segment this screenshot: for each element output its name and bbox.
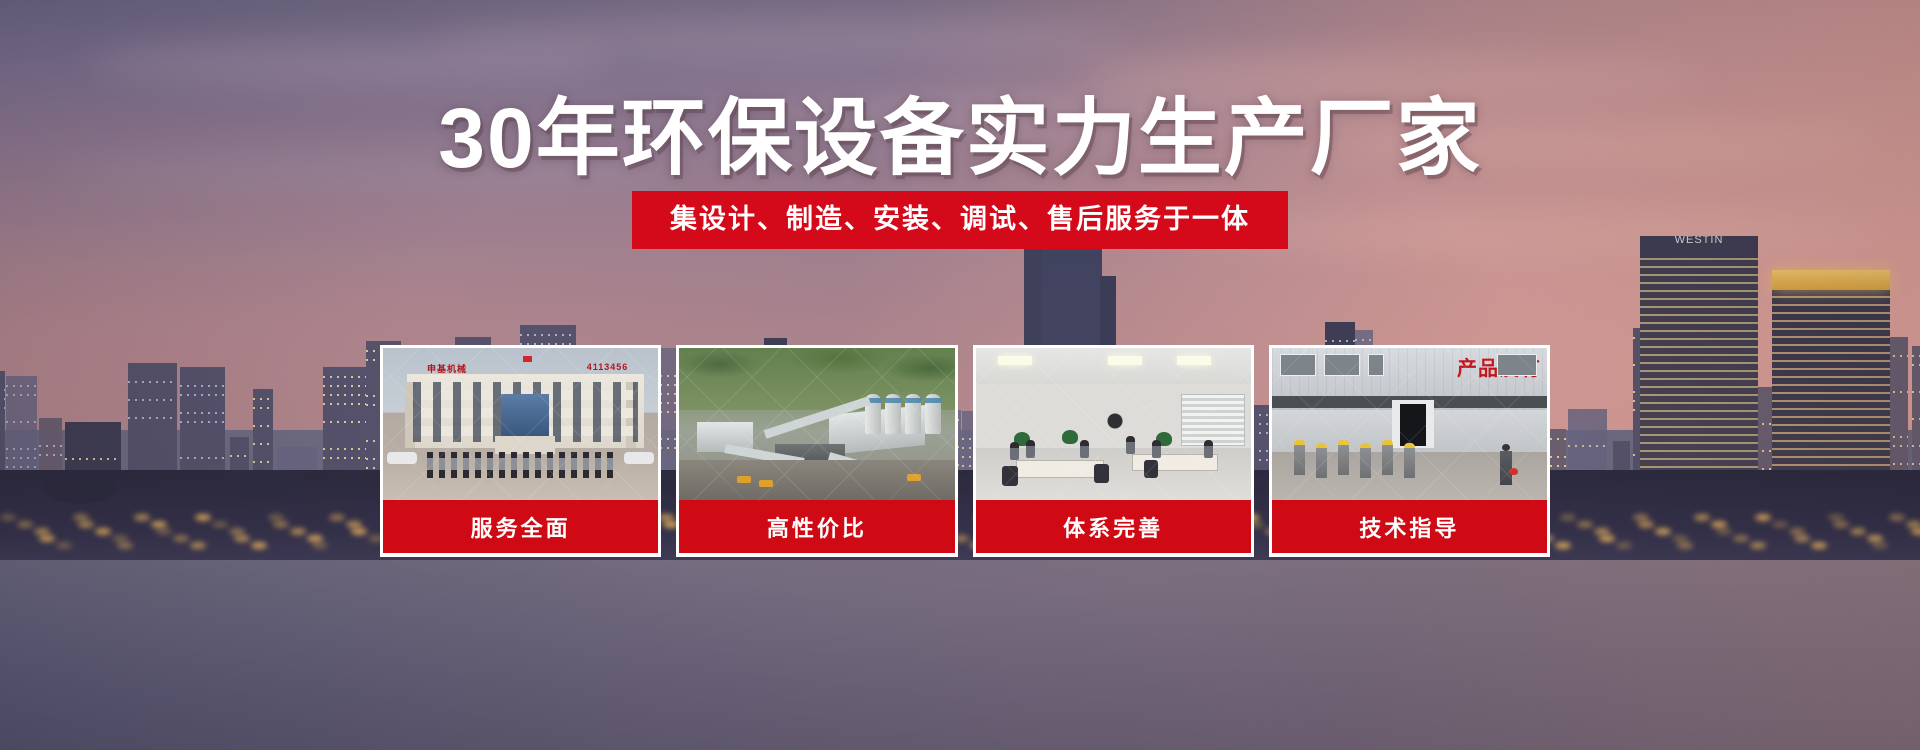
card-caption: 高性价比: [679, 500, 954, 553]
waterfront-lamp: [95, 528, 111, 535]
waterfront-lamp: [173, 535, 189, 542]
waterfront-lamp: [290, 528, 306, 535]
waterfront-lamp: [1833, 521, 1849, 528]
waterfront-lamp: [39, 535, 55, 542]
waterfront-lamp: [73, 514, 89, 521]
water-ripple: [0, 568, 1920, 569]
waterfront-lamp: [312, 542, 328, 549]
waterfront-lamp: [1789, 528, 1805, 535]
building-window-row: [253, 443, 273, 445]
card-caption: 体系完善: [976, 500, 1251, 553]
card-caption: 技术指导: [1272, 500, 1547, 553]
waterfront-lamp: [1772, 521, 1788, 528]
water-ripple: [0, 639, 1920, 640]
aerial-production-plant-photo: [679, 348, 954, 500]
waterfront-lamp: [117, 542, 133, 549]
building-window-row: [253, 407, 273, 409]
waterfront-lamp: [190, 542, 206, 549]
building-window-row: [323, 376, 366, 378]
waterfront-lamp: [212, 521, 228, 528]
building-window-row: [39, 454, 62, 456]
water-ripple: [0, 723, 1920, 724]
waterfront-lamp: [1555, 542, 1571, 549]
water-ripple: [0, 665, 1920, 666]
building-window-row: [1568, 445, 1607, 447]
waterfront-lamp: [268, 514, 284, 521]
waterfront-lamp: [1828, 514, 1844, 521]
cloud-band: [430, 18, 1130, 58]
water-ripple: [0, 707, 1920, 708]
waterfront-lamp: [229, 528, 245, 535]
water-ripple: [0, 581, 1920, 582]
waterfront-lamp: [156, 528, 172, 535]
waterfront-lamp: [17, 521, 33, 528]
water-ripple: [0, 576, 1920, 577]
water-ripple: [0, 589, 1920, 590]
waterfront-lamp: [1677, 542, 1693, 549]
building-window-row: [1355, 339, 1373, 341]
water-ripple: [0, 728, 1920, 729]
waterfront-lamp: [1711, 521, 1727, 528]
building-window-row: [323, 403, 366, 405]
waterfront-lamp: [1755, 514, 1771, 521]
water-ripple: [0, 560, 1920, 561]
waterfront-lamp: [0, 514, 16, 521]
building-window-row: [520, 334, 576, 336]
waterfront-lamp: [1811, 542, 1827, 549]
water-ripple: [0, 673, 1920, 674]
water-ripple: [0, 623, 1920, 624]
water-ripple: [0, 618, 1920, 619]
building-window-row: [6, 466, 37, 468]
feature-card[interactable]: 申基机械 4113456 服务全面: [380, 345, 661, 557]
waterfront-lamp: [307, 535, 323, 542]
water-ripple: [0, 602, 1920, 603]
building-window-row: [323, 394, 366, 396]
waterfront-lamp: [273, 521, 289, 528]
building-window-row: [253, 461, 273, 463]
building-window-row: [0, 407, 5, 409]
westin-sign-label: WESTIN: [1640, 236, 1758, 246]
water-ripple: [0, 610, 1920, 611]
page-title: 30年环保设备实力生产厂家: [0, 96, 1920, 180]
waterfront-lamp: [1694, 514, 1710, 521]
waterfront-lamp: [1889, 514, 1905, 521]
waterfront-lamp: [1560, 514, 1576, 521]
watermark-pattern: [679, 348, 954, 500]
building-window-row: [323, 448, 366, 450]
water-ripple: [0, 597, 1920, 598]
building-window-row: [323, 457, 366, 459]
building-window-row: [180, 421, 225, 423]
waterfront-lamp: [1750, 542, 1766, 549]
waterfront-lamp: [346, 521, 362, 528]
waterfront-lamp: [1594, 528, 1610, 535]
feature-card[interactable]: 产品没有 专业 高效 技术指导: [1269, 345, 1550, 557]
building-window-row: [128, 417, 177, 419]
waterfront-lamp: [56, 542, 72, 549]
company-headquarters-photo: 申基机械 4113456: [383, 348, 658, 500]
waterfront-lamp: [1794, 535, 1810, 542]
building-window-row: [39, 445, 62, 447]
waterfront-lamp: [234, 535, 250, 542]
building-window-row: [128, 399, 177, 401]
water-ripple: [0, 686, 1920, 687]
feature-card[interactable]: 体系完善: [973, 345, 1254, 557]
building-window-row: [180, 457, 225, 459]
building-window-row: [6, 421, 37, 423]
water-ripple: [0, 736, 1920, 737]
building-window-row: [180, 385, 225, 387]
subtitle-banner: 集设计、制造、安装、调试、售后服务于一体: [632, 191, 1288, 249]
waterfront-lamp: [351, 528, 367, 535]
building-gold-crown: [1772, 270, 1890, 290]
waterfront-lamp: [1850, 528, 1866, 535]
building-window-row: [1912, 418, 1920, 420]
building-window-row: [1912, 463, 1920, 465]
waterfront-lamp: [1733, 535, 1749, 542]
water-ripple: [0, 644, 1920, 645]
building-window-row: [1912, 355, 1920, 357]
waterfront-lamp: [195, 514, 211, 521]
waterfront-lamp: [78, 521, 94, 528]
waterfront-lamp: [1716, 528, 1732, 535]
water-ripple: [0, 660, 1920, 661]
waterfront-lamp: [1638, 521, 1654, 528]
water-ripple: [0, 652, 1920, 653]
building-window-row: [6, 448, 37, 450]
waterfront-lamp: [34, 528, 50, 535]
hero-banner: WESTIN 30年环保设备实力生产厂家 集设计、制造、安装、调试、售后服务于一…: [0, 0, 1920, 750]
watermark-pattern: [383, 348, 658, 500]
waterfront-lamp: [1872, 542, 1888, 549]
water-ripple: [0, 715, 1920, 716]
waterfront-lamp: [1911, 528, 1920, 535]
building-window-row: [1912, 391, 1920, 393]
building-window-row: [253, 398, 273, 400]
water-ripple: [0, 681, 1920, 682]
river-water: [0, 560, 1920, 750]
waterfront-lamp: [134, 514, 150, 521]
waterfront-lamp: [112, 535, 128, 542]
waterfront-lamp: [1633, 514, 1649, 521]
building-window-row: [323, 385, 366, 387]
building-window-row: [323, 421, 366, 423]
office-workspace-photo: [976, 348, 1251, 500]
waterfront-lamp: [329, 514, 345, 521]
building-window-row: [230, 455, 249, 457]
building-window-row: [0, 389, 5, 391]
watermark-pattern: [976, 348, 1251, 500]
building-window-row: [6, 394, 37, 396]
waterfront-lamp: [1672, 535, 1688, 542]
factory-workers-briefing-photo: 产品没有 专业 高效: [1272, 348, 1547, 500]
building-window-row: [128, 381, 177, 383]
building-window-row: [6, 457, 37, 459]
card-caption: 服务全面: [383, 500, 658, 553]
feature-card[interactable]: 高性价比: [676, 345, 957, 557]
building-window-row: [253, 425, 273, 427]
water-ripple: [0, 631, 1920, 632]
watermark-pattern: [1272, 348, 1547, 500]
waterfront-lamp: [251, 542, 267, 549]
waterfront-lamp: [1867, 535, 1883, 542]
building-window-row: [6, 385, 37, 387]
building-window-row: [180, 394, 225, 396]
building-window-row: [0, 398, 5, 400]
water-ripple: [0, 702, 1920, 703]
feature-card-list: 申基机械 4113456 服务全面: [380, 345, 1550, 557]
building-window-row: [180, 412, 225, 414]
waterfront-lamp: [1599, 535, 1615, 542]
building-window-row: [1912, 445, 1920, 447]
waterfront-lamp: [1655, 528, 1671, 535]
water-ripple: [0, 694, 1920, 695]
building-window-row: [1912, 364, 1920, 366]
waterfront-lamp: [151, 521, 167, 528]
waterfront-lamp: [1577, 521, 1593, 528]
building-window-row: [65, 458, 121, 460]
building-window-row: [1325, 340, 1355, 342]
waterfront-lamp: [1616, 542, 1632, 549]
waterfront-lamp: [1906, 521, 1920, 528]
